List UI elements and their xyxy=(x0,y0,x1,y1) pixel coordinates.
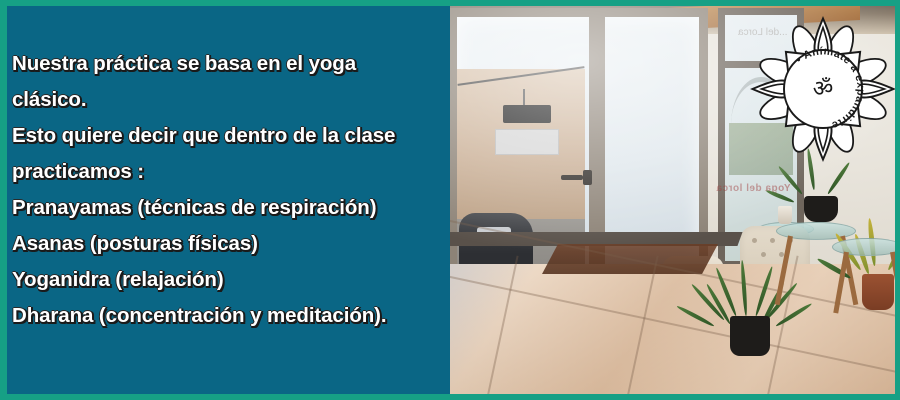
message-lines: Nuestra práctica se basa en el yoga clás… xyxy=(12,46,444,334)
border-top xyxy=(0,0,900,6)
door-handle xyxy=(561,175,583,180)
yoga-promo-banner: ...del Lorca Yoga del lorca xyxy=(0,0,900,400)
potted-plant-spider xyxy=(694,258,804,364)
text-line-5: Pranayamas (técnicas de respiración) xyxy=(12,190,444,226)
plant-pot xyxy=(862,274,894,310)
text-line-8: Dharana (concentración y meditación). xyxy=(12,298,444,334)
text-line-2: clásico. xyxy=(12,82,444,118)
text-panel: Nuestra práctica se basa en el yoga clás… xyxy=(0,0,450,400)
window-decal: Yoga del lorca xyxy=(716,183,791,194)
text-line-1: Nuestra práctica se basa en el yoga xyxy=(12,46,444,82)
text-line-3: Esto quiere decir que dentro de la clase xyxy=(12,118,444,154)
tiled-floor xyxy=(440,264,900,400)
potted-plant-croton xyxy=(838,218,900,328)
border-left xyxy=(0,0,7,400)
border-bottom xyxy=(0,394,900,400)
mandala-logo: • Anímate a expandirte ॐ xyxy=(748,8,898,170)
plant-pot xyxy=(730,316,770,356)
border-right xyxy=(895,0,900,400)
wall-plate xyxy=(495,129,559,155)
tile-grout-line xyxy=(623,256,658,400)
text-line-7: Yoganidra (relajación) xyxy=(12,262,444,298)
om-symbol: ॐ xyxy=(813,76,834,102)
tile-grout-line xyxy=(483,256,518,400)
plant-pot xyxy=(804,196,838,222)
text-line-6: Asanas (posturas físicas) xyxy=(12,226,444,262)
text-line-4: practicamos : xyxy=(12,154,444,190)
hanging-sign xyxy=(503,105,551,123)
